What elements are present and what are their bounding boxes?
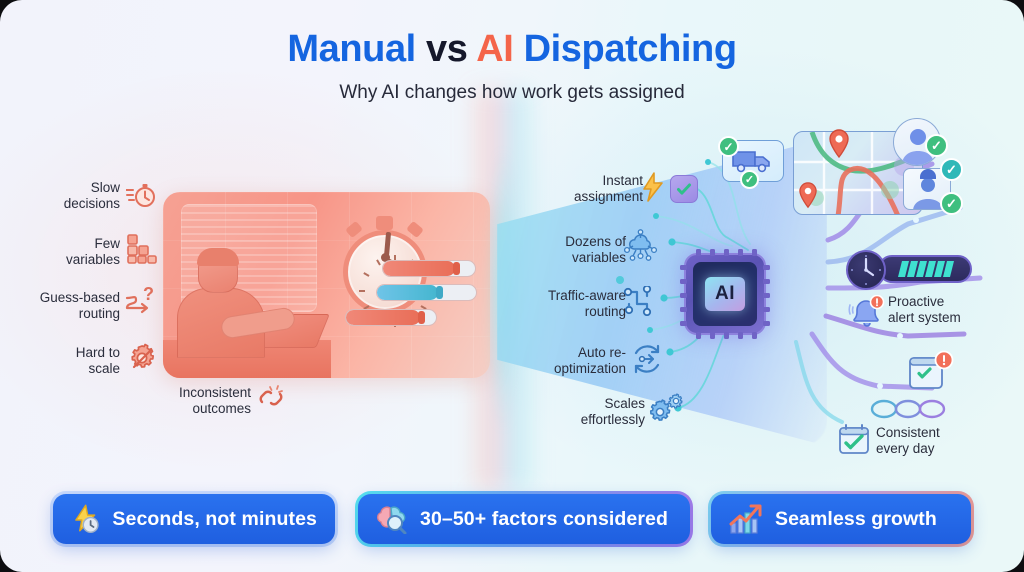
- chip-label: AI: [715, 283, 735, 305]
- slider-control-2: [376, 284, 477, 301]
- svg-text:?: ?: [143, 286, 154, 304]
- ai-label-proactive-alert-system: Proactive alert system: [888, 294, 998, 327]
- cloud-network-icon: [624, 228, 658, 262]
- brain-magnifier-icon: [376, 504, 408, 534]
- person-hair: [197, 248, 239, 266]
- footer-pill-wrap-3: Seamless growth: [708, 491, 974, 547]
- ai-label-instant-assignment: Instant assignment: [545, 173, 643, 206]
- ai-chip: AI: [684, 253, 766, 335]
- blocks-few-icon: [126, 234, 158, 264]
- priority-task-check-icon: [908, 350, 954, 392]
- footer-pill-factors-considered[interactable]: 30–50+ factors considered: [358, 494, 690, 544]
- broken-chain-icon: [256, 384, 286, 412]
- ai-label-auto-re-optimization: Auto re- optimization: [523, 345, 626, 378]
- manual-label-slow-decisions: Slow decisions: [20, 180, 120, 213]
- manual-label-few-variables: Few variables: [20, 236, 120, 269]
- stopwatch-crown: [376, 216, 393, 230]
- truck-approved-check-icon: ✓: [718, 136, 739, 157]
- ai-label-traffic-aware-routing: Traffic-aware routing: [520, 288, 626, 321]
- title-word-manual: Manual: [287, 28, 416, 70]
- manual-label-guess-based-routing: Guess-based routing: [12, 290, 120, 323]
- avatar-approved-check-icon: ✓: [925, 134, 948, 157]
- chain-link-icon: [870, 398, 948, 420]
- slider-control-1: [382, 260, 476, 277]
- footer-pill-label-3: Seamless growth: [775, 508, 937, 531]
- ai-label-consistent-every-day: Consistent every day: [876, 425, 980, 458]
- footer-pill-seamless-growth[interactable]: Seamless growth: [711, 494, 971, 544]
- broken-gear-icon: [126, 342, 158, 374]
- footer-pill-label-2: 30–50+ factors considered: [420, 508, 668, 531]
- refresh-cycle-icon: [630, 342, 664, 376]
- title-word-ai: AI: [476, 28, 513, 70]
- check-square-icon: [670, 175, 698, 203]
- ai-label-dozens-of-variables: Dozens of variables: [530, 234, 626, 267]
- chip-core: AI: [705, 277, 745, 311]
- map-pin-primary-icon: [828, 129, 850, 159]
- footer-pill-wrap-2: 30–50+ factors considered: [355, 491, 693, 547]
- page-subtitle: Why AI changes how work gets assigned: [0, 82, 1024, 104]
- title-word-vs: vs: [426, 28, 467, 70]
- footer-pill-label-1: Seconds, not minutes: [112, 508, 317, 531]
- growth-chart-icon: [729, 504, 763, 534]
- stopwatch-slow-icon: [126, 181, 156, 209]
- manual-dispatcher-illustration: [163, 192, 490, 378]
- bell-alert-icon: [847, 295, 885, 329]
- manual-label-hard-to-scale: Hard to scale: [20, 345, 120, 378]
- header: Manual vs AI Dispatching Why AI changes …: [0, 28, 1024, 104]
- footer-pill-wrap-1: Seconds, not minutes: [50, 491, 338, 547]
- stopwatch-nub-right: [406, 221, 424, 238]
- map-pin-secondary-icon: [798, 182, 818, 209]
- ai-label-scales-effortlessly: Scales effortlessly: [545, 396, 645, 429]
- page-title: Manual vs AI Dispatching: [0, 28, 1024, 72]
- calendar-check-icon: [838, 424, 870, 454]
- truck-delivered-check-icon: ✓: [740, 170, 759, 189]
- manual-caption-inconsistent-outcomes: Inconsistent outcomes: [155, 385, 251, 418]
- technician-check-bottom-icon: ✓: [940, 192, 963, 215]
- gears-icon: [648, 392, 684, 428]
- footer-pill-seconds-not-minutes[interactable]: Seconds, not minutes: [53, 494, 335, 544]
- chip-die: AI: [693, 262, 757, 326]
- title-word-dispatching: Dispatching: [524, 28, 737, 70]
- stopwatch-nub-left: [345, 221, 363, 238]
- lightning-bolt-icon: [640, 172, 666, 202]
- question-route-icon: ?: [124, 286, 158, 320]
- technician-check-top-icon: ✓: [940, 158, 963, 181]
- infographic-canvas: Manual vs AI Dispatching Why AI changes …: [0, 0, 1024, 572]
- clock-progress-bar-icon: [846, 250, 972, 290]
- bolt-clock-icon: [71, 504, 100, 534]
- route-node-icon: [624, 286, 656, 316]
- slider-control-3: [345, 309, 437, 326]
